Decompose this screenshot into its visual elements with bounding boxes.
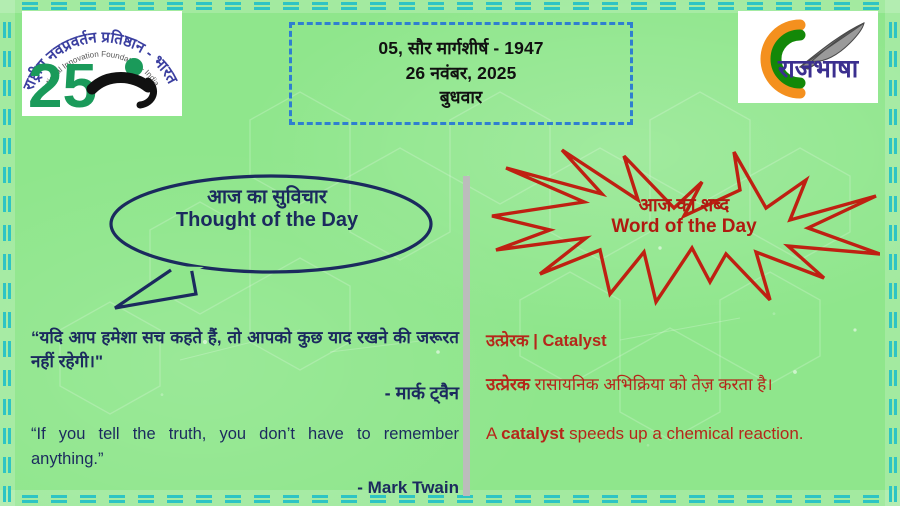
border-dash [341,2,357,10]
border-dash [776,2,792,10]
border-dash [399,2,415,10]
thought-heading-english: Thought of the Day [136,209,398,233]
border-dash [486,2,502,10]
border-dash [3,22,11,38]
border-dash [660,2,676,10]
border-dash [631,495,647,503]
border-dash [3,370,11,386]
date-line-samvat: 05, सौर मार्गशीर्ष - 1947 [378,38,543,60]
border-dash [889,138,897,154]
definition-english-prefix: A [486,424,501,443]
border-dash [889,225,897,241]
svg-text:राजभाषा: राजभाषा [777,55,860,83]
quote-english: “If you tell the truth, you don’t have t… [31,422,459,472]
border-dash [544,2,560,10]
border-dash [889,254,897,270]
border-dash [889,486,897,502]
border-dash [889,51,897,67]
definition-hindi: उत्प्रेरक रासायनिक अभिक्रिया को तेज़ करत… [486,373,886,397]
border-dash [167,2,183,10]
poster-canvas: राष्ट्रीय नवप्रवर्तन प्रतिष्ठान - भारत N… [0,0,900,506]
border-dash [718,495,734,503]
border-dash [3,80,11,96]
word-title-english: Catalyst [542,332,606,350]
definition-hindi-keyword: उत्प्रेरक [486,375,530,394]
border-dash [3,341,11,357]
border-dash [544,495,560,503]
border-dash [863,2,879,10]
national-innovation-foundation-logo: राष्ट्रीय नवप्रवर्तन प्रतिष्ठान - भारत N… [22,11,182,116]
border-dash [805,2,821,10]
word-title-hindi: उत्प्रेरक [486,332,529,350]
frame-band-left [0,0,15,506]
border-dash [689,2,705,10]
border-dash [3,225,11,241]
border-dash [889,283,897,299]
author-english: - Mark Twain [31,478,459,498]
border-dash [573,495,589,503]
border-dash [3,457,11,473]
border-dash [196,2,212,10]
border-dash [889,457,897,473]
border-dash [631,2,647,10]
svg-text:25: 25 [28,52,97,116]
border-dash [486,495,502,503]
border-dash [889,312,897,328]
border-dash [312,2,328,10]
border-dash [660,495,676,503]
border-dash [747,2,763,10]
border-dash [22,2,38,10]
border-dash [80,2,96,10]
border-dash [776,495,792,503]
word-of-the-day-heading-burst: आज का शब्द Word of the Day [488,142,880,308]
definition-english-keyword: catalyst [501,424,564,443]
border-dash [3,312,11,328]
border-dash [889,341,897,357]
word-heading-text: आज का शब्द Word of the Day [564,194,804,239]
border-dash [3,167,11,183]
date-line-gregorian: 26 नवंबर, 2025 [406,63,517,85]
border-dash [805,495,821,503]
border-dash [834,495,850,503]
border-dash [3,196,11,212]
frame-band-right [885,0,900,506]
quote-hindi: “यदि आप हमेशा सच कहते हैं, तो आपको कुछ य… [31,326,459,374]
border-dash [457,2,473,10]
definition-hindi-rest: रासायनिक अभिक्रिया को तेज़ करता है। [530,375,773,394]
word-title-separator: | [529,332,543,350]
border-dash [889,428,897,444]
border-dash [889,109,897,125]
border-dashes-top [22,2,879,10]
thought-heading-hindi: आज का सुविचार [136,186,398,209]
border-dash [515,495,531,503]
date-line-weekday: बुधवार [440,87,483,109]
border-dash [889,370,897,386]
column-divider [463,176,470,496]
thought-of-the-day-body: “यदि आप हमेशा सच कहते हैं, तो आपको कुछ य… [31,326,459,498]
border-dash [370,2,386,10]
border-dash [3,254,11,270]
border-dash [718,2,734,10]
border-dash [3,283,11,299]
border-dash [834,2,850,10]
border-dash [51,2,67,10]
rajbhasha-logo: राजभाषा [738,11,878,103]
border-dash [889,80,897,96]
word-title: उत्प्रेरक | Catalyst [486,328,886,351]
thought-heading-text: आज का सुविचार Thought of the Day [136,186,398,233]
border-dash [3,138,11,154]
border-dash [602,495,618,503]
border-dash [138,2,154,10]
border-dash [889,196,897,212]
border-dash [3,486,11,502]
border-dash [573,2,589,10]
border-dash [747,495,763,503]
word-of-the-day-body: उत्प्रेरक | Catalyst उत्प्रेरक रासायनिक … [486,328,886,446]
border-dash [3,109,11,125]
definition-english: A catalyst speeds up a chemical reaction… [486,422,886,446]
border-dash [3,399,11,415]
border-dash [3,51,11,67]
date-panel: 05, सौर मार्गशीर्ष - 1947 26 नवंबर, 2025… [289,22,633,125]
border-dash [254,2,270,10]
word-heading-english: Word of the Day [564,216,804,239]
border-dash [889,399,897,415]
border-dash [889,167,897,183]
border-dash [225,2,241,10]
border-dashes-right [889,22,897,502]
author-hindi: - मार्क ट्वैन [31,381,459,405]
border-dash [428,2,444,10]
border-dash [457,495,473,503]
border-dash [602,2,618,10]
border-dash [283,2,299,10]
border-dash [109,2,125,10]
definition-english-rest: speeds up a chemical reaction. [564,424,803,443]
border-dashes-left [3,22,11,502]
border-dash [863,495,879,503]
border-dash [689,495,705,503]
border-dash [515,2,531,10]
border-dash [3,428,11,444]
word-heading-hindi: आज का शब्द [564,194,804,216]
thought-of-the-day-heading-bubble: आज का सुविचार Thought of the Day [96,166,436,316]
border-dash [889,22,897,38]
